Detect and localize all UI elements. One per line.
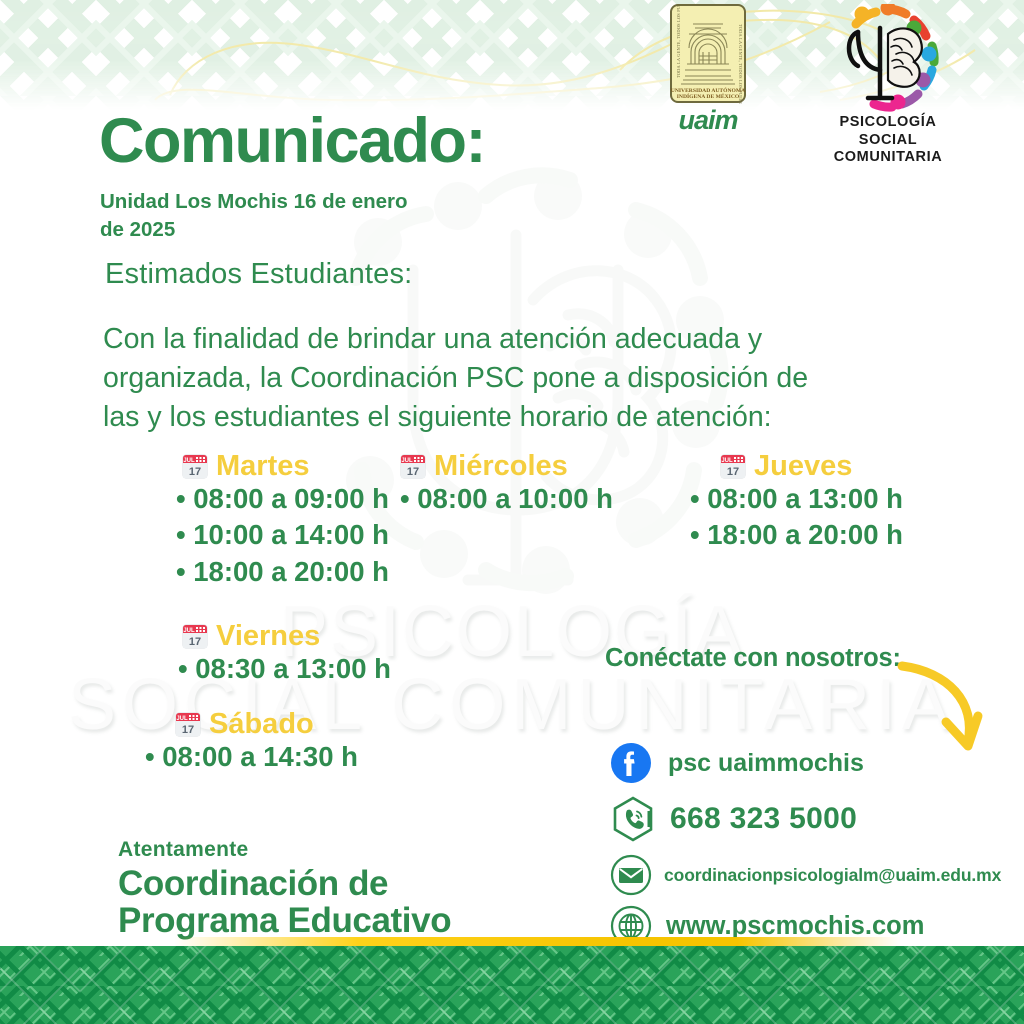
logo-group: TODA LA GENTE, TODOS LOS PUEBLOS TODA LA… xyxy=(662,4,968,167)
psc-logo-title: PSICOLOGÍA SOCIAL COMUNITARIA xyxy=(808,114,968,167)
day-name: Miércoles xyxy=(434,452,568,481)
subtitle-line-2: de 2025 xyxy=(100,216,480,244)
calendar-icon: JUL 17 xyxy=(720,453,746,480)
paragraph-line-1: Con la finalidad de brindar una atención… xyxy=(103,320,933,359)
yellow-divider-rule xyxy=(0,937,1024,946)
phone-number: 668 323 5000 xyxy=(670,802,857,836)
facebook-handle: psc uaimmochis xyxy=(668,749,864,778)
day-name: Viernes xyxy=(216,622,320,651)
signature-closing: Atentamente xyxy=(118,838,451,862)
signature-role: Coordinación de Programa Educativo xyxy=(118,865,451,939)
svg-text:INDÍGENA DE MÉXICO: INDÍGENA DE MÉXICO xyxy=(677,92,740,100)
time-slot: • 18:00 a 20:00 h xyxy=(176,554,389,590)
psc-title-line-2: SOCIAL COMUNITARIA xyxy=(808,132,968,167)
phone-icon xyxy=(610,796,656,842)
calendar-icon: JUL 17 xyxy=(182,453,208,480)
svg-text:17: 17 xyxy=(189,466,201,478)
schedule-day-jueves: JUL 17 Jueves • 08:00 a 13:00 h • 18:00 … xyxy=(690,452,903,554)
facebook-icon xyxy=(610,742,652,784)
time-slot: • 08:30 a 13:00 h xyxy=(178,651,391,687)
time-slot: • 10:00 a 14:00 h xyxy=(176,517,389,553)
svg-text:17: 17 xyxy=(727,466,739,478)
day-header: JUL 17 Viernes xyxy=(178,622,391,651)
signature-role-line-1: Coordinación de xyxy=(118,865,451,902)
time-slot: • 08:00 a 14:30 h xyxy=(145,739,358,775)
psi-brain-people-icon xyxy=(828,4,948,112)
poster-canvas: PSICOLOGÍA SOCIAL COMUNITARIA xyxy=(0,0,1024,1024)
bottom-pattern-layer-2 xyxy=(0,946,1024,1024)
schedule-day-miercoles: JUL 17 Miércoles • 08:00 a 10:00 h xyxy=(400,452,613,517)
contact-row-email[interactable]: coordinacionpsicologialm@uaim.edu.mx xyxy=(610,854,1010,896)
subtitle-line-1: Unidad Los Mochis 16 de enero xyxy=(100,188,480,216)
day-name: Martes xyxy=(216,452,310,481)
day-header: JUL 17 Martes xyxy=(176,452,389,481)
calendar-icon: JUL 17 xyxy=(182,623,208,650)
calendar-icon: JUL 17 xyxy=(175,711,201,738)
contact-heading: Conéctate con nosotros: xyxy=(605,644,901,673)
svg-text:17: 17 xyxy=(189,636,201,648)
uaim-crest-icon: TODA LA GENTE, TODOS LOS PUEBLOS TODA LA… xyxy=(669,4,747,104)
time-slot: • 08:00 a 09:00 h xyxy=(176,481,389,517)
svg-text:17: 17 xyxy=(182,724,194,736)
svg-text:UNIVERSIDAD AUTÓNOMA: UNIVERSIDAD AUTÓNOMA xyxy=(671,86,745,94)
schedule-day-viernes: JUL 17 Viernes • 08:30 a 13:00 h xyxy=(178,622,391,687)
svg-text:17: 17 xyxy=(407,466,419,478)
email-address: coordinacionpsicologialm@uaim.edu.mx xyxy=(664,865,1001,886)
paragraph-line-3: las y los estudiantes el siguiente horar… xyxy=(103,398,933,437)
signature-role-line-2: Programa Educativo xyxy=(118,902,451,939)
contact-row-phone[interactable]: 668 323 5000 xyxy=(610,796,1010,842)
body-paragraph: Con la finalidad de brindar una atención… xyxy=(103,320,933,436)
page-subtitle: Unidad Los Mochis 16 de enero de 2025 xyxy=(100,188,480,243)
day-header: JUL 17 Miércoles xyxy=(400,452,613,481)
contact-row-facebook[interactable]: psc uaimmochis xyxy=(610,742,1010,784)
page-title: Comunicado: xyxy=(99,110,485,173)
signature-block: Atentamente Coordinación de Programa Edu… xyxy=(118,838,451,939)
schedule-section: JUL 17 Martes • 08:00 a 09:00 h • 10:00 … xyxy=(0,452,1024,792)
day-header: JUL 17 Sábado xyxy=(145,710,358,739)
time-slot: • 08:00 a 13:00 h xyxy=(690,481,903,517)
email-icon xyxy=(610,854,652,896)
greeting-text: Estimados Estudiantes: xyxy=(105,258,412,291)
bottom-pattern-band xyxy=(0,946,1024,1024)
calendar-icon: JUL 17 xyxy=(400,453,426,480)
uaim-wordmark: uaim xyxy=(678,107,737,134)
contact-list: psc uaimmochis 668 323 5000 xyxy=(610,742,1010,959)
schedule-day-sabado: JUL 17 Sábado • 08:00 a 14:30 h xyxy=(145,710,358,775)
day-name: Jueves xyxy=(754,452,852,481)
day-header: JUL 17 Jueves xyxy=(690,452,903,481)
uaim-logo: TODA LA GENTE, TODOS LOS PUEBLOS TODA LA… xyxy=(662,4,754,134)
schedule-day-martes: JUL 17 Martes • 08:00 a 09:00 h • 10:00 … xyxy=(176,452,389,590)
time-slot: • 08:00 a 10:00 h xyxy=(400,481,613,517)
psc-logo: PSICOLOGÍA SOCIAL COMUNITARIA xyxy=(808,4,968,167)
psc-title-line-1: PSICOLOGÍA xyxy=(808,114,968,132)
paragraph-line-2: organizada, la Coordinación PSC pone a d… xyxy=(103,359,933,398)
time-slot: • 18:00 a 20:00 h xyxy=(690,517,903,553)
day-name: Sábado xyxy=(209,710,314,739)
